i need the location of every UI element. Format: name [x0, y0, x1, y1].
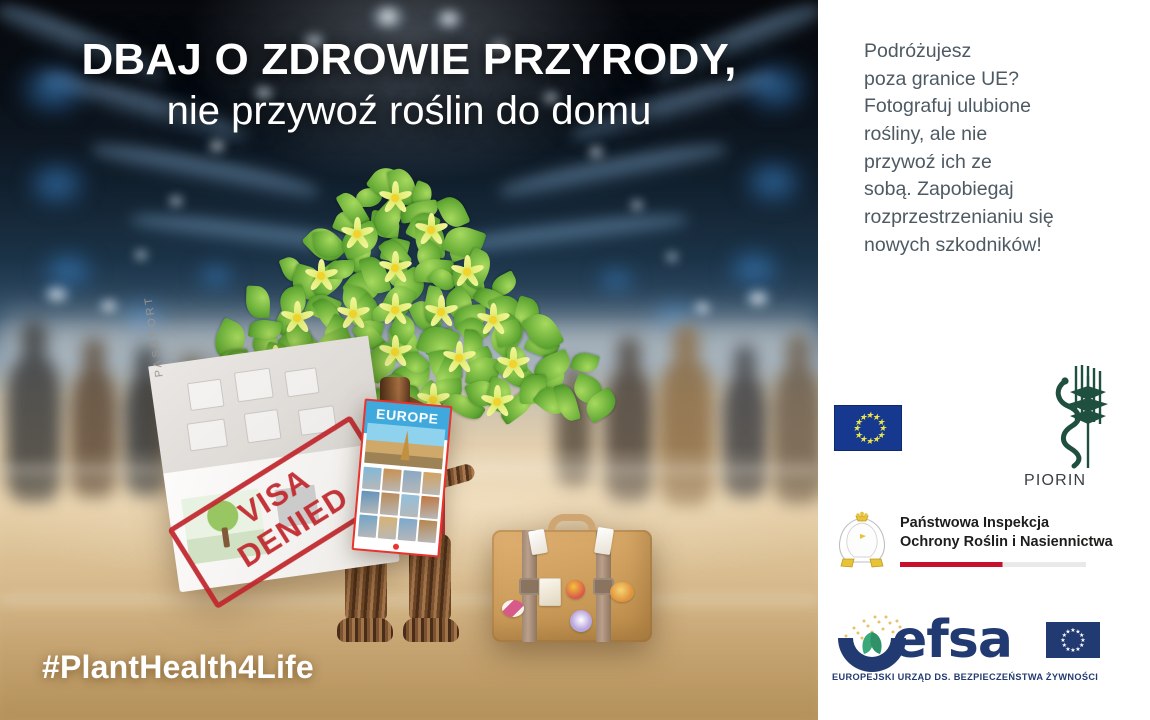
- eu-flag-icon: ★★★★★★★★★★★★: [834, 405, 902, 451]
- efsa-logo: efsa ★★★★★★★★★★★★ EUROPEJSKI URZĄD DS. B…: [828, 608, 1104, 694]
- piorin-label: PIORIN: [1024, 472, 1086, 490]
- inspection-red-rule: [900, 562, 1086, 567]
- efsa-eu-flag-icon: ★★★★★★★★★★★★: [1046, 622, 1100, 658]
- passport-stamp-box: [187, 418, 229, 451]
- suitcase-sticker: [570, 610, 592, 632]
- tree-leaf: [246, 286, 271, 319]
- logo-row-eu-piorin: ★★★★★★★★★★★★: [818, 360, 1150, 500]
- logo-row-efsa: efsa ★★★★★★★★★★★★ EUROPEJSKI URZĄD DS. B…: [818, 608, 1150, 708]
- ceiling-lamp: [132, 250, 150, 260]
- headline-line-2: nie przywoź roślin do domu: [0, 88, 818, 134]
- tree-flower: [378, 335, 412, 369]
- polish-eagle-emblem-icon: [830, 510, 894, 572]
- tree-flower: [280, 301, 314, 335]
- tree-flower: [442, 341, 476, 375]
- efsa-subtitle: EUROPEJSKI URZĄD DS. BEZPIECZEŃSTWA ŻYWN…: [832, 672, 1098, 682]
- brochure-photo-tile: [362, 467, 382, 490]
- inspection-name-line-2: Ochrony Roślin i Nasiennictwa: [900, 533, 1113, 552]
- logo-row-inspection: Państwowa Inspekcja Ochrony Roślin i Nas…: [818, 504, 1150, 594]
- tree-flower: [480, 385, 514, 419]
- brochure-photo-tile: [422, 472, 442, 495]
- efsa-eu-stars: ★★★★★★★★★★★★: [1046, 622, 1100, 658]
- eu-stars: ★★★★★★★★★★★★: [835, 406, 901, 450]
- tree-flower: [476, 303, 510, 337]
- terminal-wall-panel: [742, 158, 804, 206]
- passport-stamp-box: [234, 368, 274, 403]
- brochure-photo-grid: [358, 467, 442, 544]
- tree-flower: [336, 297, 370, 331]
- logo-stack: ★★★★★★★★★★★★: [818, 360, 1150, 708]
- ceiling-lamp: [586, 146, 606, 158]
- efsa-wordmark: efsa: [892, 614, 1012, 666]
- brochure-photo-tile: [402, 470, 422, 493]
- ceiling-lamp: [368, 6, 408, 28]
- passport-stamp-box: [244, 409, 282, 443]
- ceiling-lamp: [166, 196, 186, 206]
- headline-line-1: DBAJ O ZDROWIE PRZYRODY,: [0, 36, 818, 84]
- terminal-wall-panel: [196, 262, 236, 290]
- poster-headline: DBAJ O ZDROWIE PRZYRODY, nie przywoź roś…: [0, 36, 818, 134]
- eu-star: ★: [1075, 646, 1080, 653]
- campaign-photo-panel: PASSPORT VISA DENIED EUROPE: [0, 0, 818, 720]
- brochure-photo-tile: [378, 516, 398, 539]
- inspection-name: Państwowa Inspekcja Ochrony Roślin i Nas…: [900, 514, 1113, 553]
- ceiling-lamp: [664, 252, 680, 262]
- terminal-wall-panel: [596, 266, 636, 294]
- brochure-photo-tile: [382, 468, 402, 491]
- inspection-name-line-1: Państwowa Inspekcja: [900, 514, 1113, 533]
- brochure-photo-tile: [420, 496, 440, 519]
- brochure-photo-tile: [400, 494, 420, 517]
- mascot-foot: [337, 618, 393, 642]
- terminal-wall-panel: [726, 248, 782, 290]
- eu-star: ★: [859, 414, 866, 421]
- suitcase-sticker: [610, 582, 634, 602]
- europe-travel-brochure: EUROPE: [352, 398, 453, 557]
- brochure-photo-tile: [380, 492, 400, 515]
- tree-flower: [304, 259, 338, 293]
- brochure-photo-tile: [398, 518, 418, 541]
- passport-stamp-box: [187, 379, 225, 411]
- tree-flower: [378, 293, 412, 327]
- ceiling-lamp: [432, 10, 466, 28]
- brochure-photo-tile: [358, 514, 378, 537]
- suitcase-sticker: [566, 580, 585, 599]
- tree-flower: [378, 251, 412, 285]
- tree-flower: [378, 181, 412, 215]
- brochure-photo-tile: [418, 520, 438, 543]
- info-body-text: Podróżujesz poza granice UE? Fotografuj …: [864, 38, 1128, 260]
- eu-star: ★: [1065, 628, 1070, 635]
- poster-root: PASSPORT VISA DENIED EUROPE: [0, 0, 1150, 720]
- tree-flower: [414, 213, 448, 247]
- campaign-hashtag: #PlantHealth4Life: [42, 649, 314, 686]
- terminal-wall-panel: [40, 250, 96, 292]
- passport-stamp-box: [284, 367, 319, 397]
- tree-flower: [340, 217, 374, 251]
- brochure-photo-tile: [360, 491, 380, 514]
- tree-flower: [496, 347, 530, 381]
- mascot-foot: [403, 618, 459, 642]
- info-panel: Podróżujesz poza granice UE? Fotografuj …: [818, 0, 1150, 720]
- terminal-wall-panel: [26, 160, 88, 208]
- eu-star: ★: [1070, 647, 1075, 654]
- brochure-dot: [393, 543, 400, 550]
- piorin-logo: PIORIN: [1024, 360, 1120, 492]
- ceiling-lamp: [628, 200, 646, 210]
- ceiling-lamp: [206, 140, 228, 152]
- tree-flower: [424, 295, 458, 329]
- tree-flower: [450, 255, 484, 289]
- brochure-cover-photo: [364, 423, 445, 470]
